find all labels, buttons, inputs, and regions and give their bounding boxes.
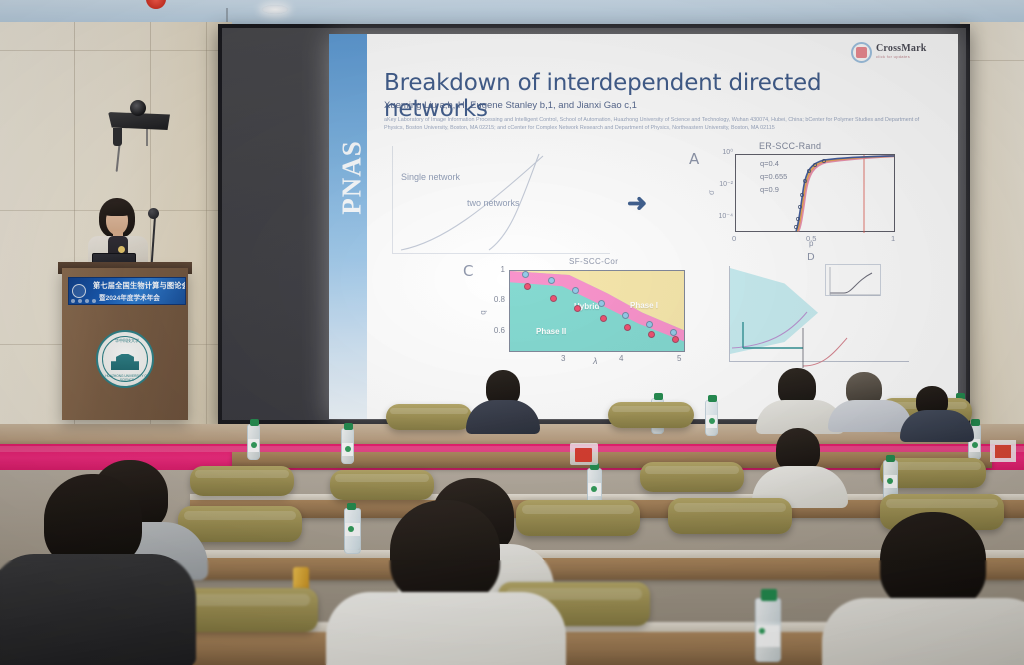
panel-a-legend-0: q=0.4	[760, 159, 779, 168]
chair	[608, 402, 694, 428]
person-shoulders	[326, 592, 566, 665]
panel-c-xlabel: λ	[593, 356, 597, 366]
conference-banner: 第七届全国生物计算与图论会议 暨2024年度学术年会	[68, 277, 186, 305]
audience-member	[466, 370, 540, 432]
panel-c-ytick-2: 0.6	[483, 326, 505, 335]
arrow-right-icon: ➜	[627, 192, 647, 216]
panel-a-xtick-2: 1	[891, 234, 895, 243]
audience-member	[334, 500, 560, 665]
panel-c-marker-upper	[522, 271, 529, 278]
banner-line-1: 第七届全国生物计算与图论会议	[93, 281, 186, 291]
panel-c-marker-upper	[598, 300, 605, 307]
paper-cup-band	[995, 445, 1011, 458]
panel-d-inset-chart	[825, 264, 881, 296]
person-shoulders	[0, 554, 196, 665]
microphone-head-icon	[118, 246, 125, 253]
crossmark-square-icon	[856, 47, 867, 58]
pnas-journal-band: PNAS	[329, 34, 367, 419]
ceiling-light-icon	[262, 5, 288, 14]
panel-c-label-phase2: Phase II	[536, 327, 566, 336]
wall-panel-seam	[0, 50, 232, 51]
projection-screen: PNAS CrossMark click for updates Breakdo…	[218, 24, 970, 424]
crossmark-sublabel: click for updates	[876, 54, 910, 59]
camera-lens-icon	[130, 100, 146, 116]
panel-c-marker-lower	[574, 305, 581, 312]
sketch-label-single: Single network	[401, 172, 460, 182]
network-comparison-sketch: Single network two networks	[392, 146, 610, 254]
university-emblem: 华中科技大学 HUAZHONG UNIVERSITY OF SCIENCE	[96, 330, 154, 388]
panel-c-marker-lower	[672, 336, 679, 343]
person-shoulders	[900, 410, 974, 442]
panel-a-legend-2: q=0.9	[760, 185, 779, 194]
banner-logo-dots	[71, 299, 99, 304]
person-head	[880, 512, 986, 610]
panel-a-ylabel: σ	[707, 190, 716, 195]
slide-title: Breakdown of interdependent directed net…	[384, 70, 929, 122]
panel-c-xtick-2: 5	[677, 354, 681, 363]
panel-c-label: C	[463, 262, 473, 280]
panel-a-legend-1: q=0.655	[760, 172, 787, 181]
sketch-label-two: two networks	[467, 198, 520, 208]
slide-affiliations: aKey Laboratory of Image Information Pro…	[384, 116, 929, 133]
emblem-text-top: 华中科技大学	[106, 338, 148, 346]
audience-member	[0, 474, 196, 665]
chart-panel-d: D	[707, 256, 925, 376]
panel-a-label: A	[689, 150, 699, 168]
panel-c-title: SF-SCC-Cor	[569, 257, 618, 266]
panel-c-xtick-1: 4	[619, 354, 623, 363]
person-shoulders	[822, 598, 1024, 665]
panel-c-marker-lower	[648, 331, 655, 338]
panel-c-ylabel: q	[479, 310, 488, 314]
panel-c-marker-lower	[524, 283, 531, 290]
panel-a-ytick-2: 10⁻⁴	[711, 212, 733, 220]
crossmark-label: CrossMark	[876, 43, 927, 54]
emblem-text-bottom: HUAZHONG UNIVERSITY OF SCIENCE	[104, 374, 150, 382]
chart-panel-c: C SF-SCC-Cor Phase I Hybrid Phase II	[461, 256, 709, 376]
audience-member	[836, 512, 1024, 665]
chair	[668, 498, 792, 534]
water-bottle	[705, 400, 718, 436]
panel-c-marker-upper	[670, 329, 677, 336]
panel-c-plot-area: Phase I Hybrid Phase II	[509, 270, 685, 352]
chair	[640, 462, 744, 492]
pnas-label: PNAS	[337, 126, 368, 230]
panel-c-marker-upper	[622, 312, 629, 319]
panel-c-marker-upper	[572, 287, 579, 294]
chair	[386, 404, 472, 430]
panel-c-marker-lower	[550, 295, 557, 302]
panel-a-xlabel: p	[809, 239, 813, 248]
paper-cup-band	[575, 448, 592, 462]
speaker-fringe	[102, 202, 132, 216]
ceiling-fixture-stem	[226, 8, 228, 22]
panel-c-xtick-0: 3	[561, 354, 565, 363]
panel-d-inset-curve	[826, 265, 882, 297]
panel-c-marker-upper	[548, 277, 555, 284]
panel-d-curves	[707, 256, 925, 376]
projected-slide: PNAS CrossMark click for updates Breakdo…	[329, 34, 958, 419]
water-bottle	[341, 428, 354, 464]
banner-line-2: 暨2024年度学术年会	[99, 292, 160, 302]
panel-c-label-phase1: Phase I	[630, 301, 658, 310]
person-shoulders	[466, 400, 540, 434]
person-head	[390, 500, 500, 604]
panel-c-marker-lower	[600, 315, 607, 322]
banner-seal-icon	[72, 284, 86, 298]
panel-c-ytick-1: 0.8	[483, 295, 505, 304]
wall-panel-seam	[206, 22, 207, 492]
water-bottle	[247, 424, 260, 460]
panel-c-marker-upper	[646, 321, 653, 328]
chart-panel-a: A ER-SCC-Rand	[689, 142, 927, 260]
crossmark-badge: CrossMark click for updates	[851, 40, 951, 66]
panel-a-plot-area: q=0.4 q=0.655 q=0.9	[735, 154, 895, 232]
water-bottle	[755, 598, 781, 662]
audience-member	[752, 428, 848, 504]
panel-c-marker-lower	[624, 324, 631, 331]
panel-a-ytick-0: 10⁰	[711, 148, 733, 156]
panel-c-ytick-0: 1	[483, 265, 505, 274]
slide-authors: Xueming Liu a,b, H. Eugene Stanley b,1, …	[384, 100, 904, 111]
panel-a-title: ER-SCC-Rand	[759, 141, 821, 151]
conference-hall-photo: PNAS CrossMark click for updates Breakdo…	[0, 0, 1024, 665]
panel-a-xtick-0: 0	[732, 234, 736, 243]
wall-panel-seam	[74, 22, 75, 492]
audience-member	[900, 386, 974, 440]
microphone-head-icon	[148, 208, 159, 219]
panel-a-ytick-1: 10⁻²	[711, 180, 733, 188]
camera-mount-arm	[113, 128, 122, 146]
